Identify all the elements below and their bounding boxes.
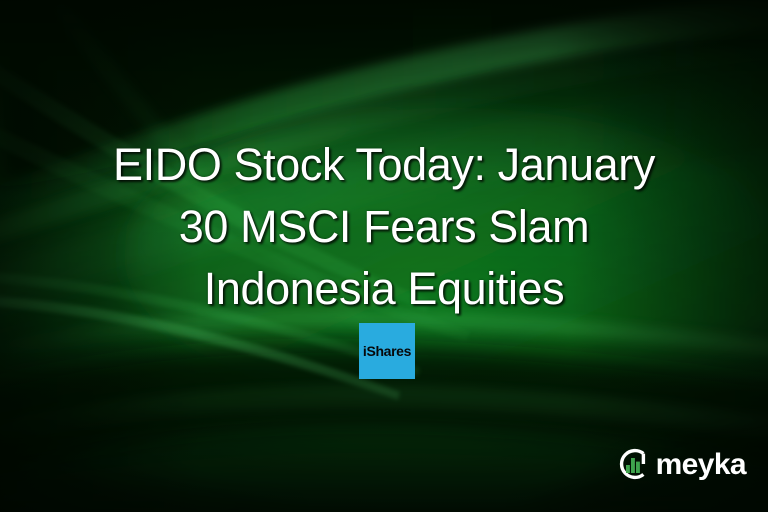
ishares-brand-tile: iShares bbox=[359, 323, 415, 379]
meyka-logo[interactable]: meyka bbox=[613, 444, 746, 484]
meyka-ring-bar-chart-icon bbox=[613, 444, 653, 484]
ishares-brand-label: iShares bbox=[363, 344, 411, 358]
page-title: EIDO Stock Today: January 30 MSCI Fears … bbox=[0, 134, 768, 320]
article-cover-card: EIDO Stock Today: January 30 MSCI Fears … bbox=[0, 0, 768, 512]
meyka-wordmark: meyka bbox=[656, 450, 746, 480]
